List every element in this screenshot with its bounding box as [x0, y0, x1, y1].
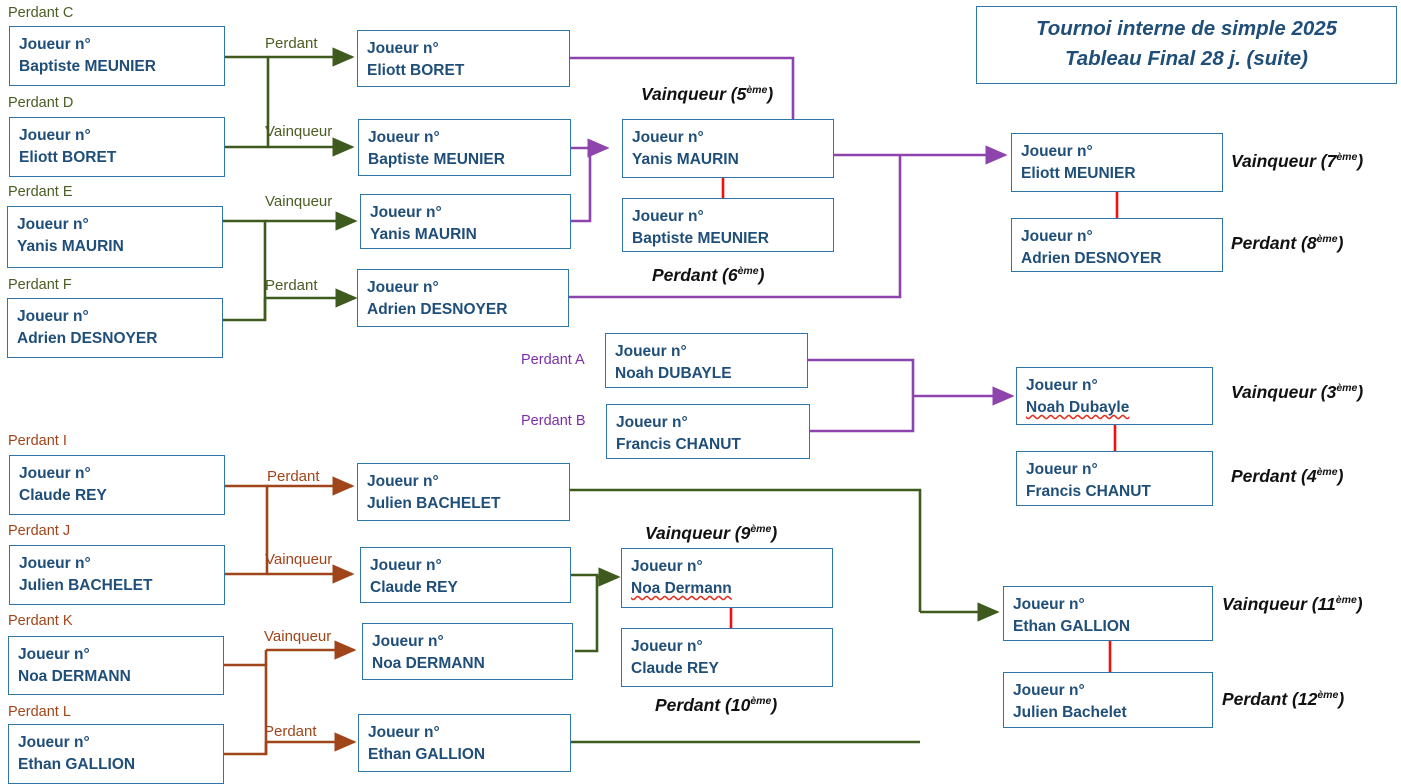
final-box-perdant-12[interactable]: Joueur n° Julien Bachelet — [1003, 672, 1213, 728]
caption-end: ) — [1338, 233, 1344, 253]
player-name: Yanis MAURIN — [632, 149, 833, 171]
edge-label-perdant-kl: Perdant — [264, 724, 317, 739]
edge-label-vainqueur-cd: Vainqueur — [265, 124, 332, 139]
player-box-perdant-d[interactable]: Joueur n° Eliott BORET — [9, 117, 225, 177]
result-box-vainqueur-5[interactable]: Joueur n° Yanis MAURIN — [622, 119, 834, 178]
round2-box-claude-rey[interactable]: Joueur n° Claude REY — [360, 547, 571, 603]
player-name: Claude REY — [370, 577, 570, 599]
caption-vainqueur-3: Vainqueur (3ème) — [1231, 383, 1363, 401]
player-prefix: Joueur n° — [368, 722, 570, 744]
player-prefix: Joueur n° — [372, 631, 572, 653]
player-name: Francis CHANUT — [616, 434, 809, 456]
final-box-perdant-4[interactable]: Joueur n° Francis CHANUT — [1016, 451, 1213, 506]
player-name: Adrien DESNOYER — [1021, 248, 1222, 270]
player-prefix: Joueur n° — [19, 463, 224, 485]
player-box-perdant-k[interactable]: Joueur n° Noa DERMANN — [8, 636, 224, 695]
player-box-perdant-b[interactable]: Joueur n° Francis CHANUT — [606, 404, 810, 459]
edge-label-vainqueur-ef: Vainqueur — [265, 194, 332, 209]
player-prefix: Joueur n° — [1013, 680, 1212, 702]
result-box-perdant-10[interactable]: Joueur n° Claude REY — [621, 628, 833, 687]
caption-end: ) — [1357, 594, 1363, 614]
caption-text: Perdant (10 — [655, 695, 750, 715]
edge-label-perdant-ef: Perdant — [265, 278, 318, 293]
result-box-perdant-6[interactable]: Joueur n° Baptiste MEUNIER — [622, 198, 834, 252]
edge-label-perdant-ij: Perdant — [267, 469, 320, 484]
player-name: Baptiste MEUNIER — [368, 149, 570, 171]
player-prefix: Joueur n° — [370, 202, 570, 224]
player-prefix: Joueur n° — [632, 206, 833, 228]
player-box-perdant-i[interactable]: Joueur n° Claude REY — [9, 455, 225, 515]
player-box-perdant-l[interactable]: Joueur n° Ethan GALLION — [8, 724, 224, 784]
player-prefix: Joueur n° — [615, 341, 807, 363]
round2-box-julien-bachelet[interactable]: Joueur n° Julien BACHELET — [357, 463, 570, 521]
caption-text: Vainqueur (11 — [1222, 594, 1336, 614]
source-label-A: Perdant A — [521, 353, 585, 368]
player-prefix: Joueur n° — [17, 306, 222, 328]
player-name: Adrien DESNOYER — [17, 328, 222, 350]
caption-text: Vainqueur (7 — [1231, 151, 1336, 171]
caption-end: ) — [1357, 382, 1363, 402]
caption-text: Perdant (4 — [1231, 466, 1317, 486]
caption-sup: ème — [746, 84, 767, 96]
player-name: Eliott BORET — [367, 60, 569, 82]
player-name: Ethan GALLION — [368, 744, 570, 766]
player-name: Julien Bachelet — [1013, 702, 1212, 724]
caption-sup: ème — [738, 265, 759, 277]
player-name: Julien BACHELET — [19, 575, 224, 597]
player-name: Francis CHANUT — [1026, 481, 1212, 503]
caption-text: Perdant (12 — [1222, 689, 1317, 709]
source-label-F: Perdant F — [8, 278, 72, 293]
round2-box-ethan-gallion[interactable]: Joueur n° Ethan GALLION — [358, 714, 571, 772]
caption-sup: ème — [1336, 151, 1357, 163]
player-prefix: Joueur n° — [368, 127, 570, 149]
caption-perdant-6: Perdant (6ème) — [652, 266, 764, 284]
edge-label-perdant-cd: Perdant — [265, 36, 318, 51]
player-prefix: Joueur n° — [631, 556, 832, 578]
caption-perdant-4: Perdant (4ème) — [1231, 467, 1343, 485]
player-name: Baptiste MEUNIER — [632, 228, 833, 250]
final-box-vainqueur-3[interactable]: Joueur n° Noah Dubayle — [1016, 367, 1213, 425]
player-name: Noah Dubayle — [1026, 397, 1212, 419]
caption-end: ) — [767, 84, 773, 104]
caption-text: Vainqueur (3 — [1231, 382, 1336, 402]
caption-end: ) — [1338, 689, 1344, 709]
player-prefix: Joueur n° — [19, 34, 224, 56]
player-prefix: Joueur n° — [367, 277, 568, 299]
caption-text: Vainqueur (5 — [641, 84, 746, 104]
player-prefix: Joueur n° — [1026, 459, 1212, 481]
caption-sup: ème — [1336, 382, 1357, 394]
player-prefix: Joueur n° — [19, 125, 224, 147]
edge-label-vainqueur-kl: Vainqueur — [264, 629, 331, 644]
source-label-K: Perdant K — [8, 614, 73, 629]
caption-vainqueur-5: Vainqueur (5ème) — [641, 85, 773, 103]
source-label-L: Perdant L — [8, 705, 71, 720]
player-name: Claude REY — [19, 485, 224, 507]
player-box-perdant-c[interactable]: Joueur n° Baptiste MEUNIER — [9, 26, 225, 86]
player-name: Baptiste MEUNIER — [19, 56, 224, 78]
result-box-vainqueur-9[interactable]: Joueur n° Noa Dermann — [621, 548, 833, 608]
player-name: Noah DUBAYLE — [615, 363, 807, 385]
final-box-perdant-8[interactable]: Joueur n° Adrien DESNOYER — [1011, 218, 1223, 272]
page-title: Tournoi interne de simple 2025 Tableau F… — [976, 6, 1397, 84]
caption-sup: ème — [750, 695, 771, 707]
player-prefix: Joueur n° — [17, 214, 222, 236]
round2-box-baptiste-meunier[interactable]: Joueur n° Baptiste MEUNIER — [358, 119, 571, 176]
caption-text: Perdant (6 — [652, 265, 738, 285]
player-prefix: Joueur n° — [1021, 141, 1222, 163]
caption-end: ) — [771, 695, 777, 715]
final-box-vainqueur-11[interactable]: Joueur n° Ethan GALLION — [1003, 586, 1213, 641]
caption-text: Perdant (8 — [1231, 233, 1317, 253]
caption-perdant-12: Perdant (12ème) — [1222, 690, 1344, 708]
source-label-C: Perdant C — [8, 6, 73, 21]
player-prefix: Joueur n° — [367, 471, 569, 493]
player-name: Claude REY — [631, 658, 832, 680]
player-name: Eliott BORET — [19, 147, 224, 169]
player-name: Eliott MEUNIER — [1021, 163, 1222, 185]
player-prefix: Joueur n° — [631, 636, 832, 658]
player-box-perdant-j[interactable]: Joueur n° Julien BACHELET — [9, 545, 225, 605]
tournament-bracket-canvas: Tournoi interne de simple 2025 Tableau F… — [0, 0, 1401, 784]
final-box-vainqueur-7[interactable]: Joueur n° Eliott MEUNIER — [1011, 133, 1223, 192]
player-prefix: Joueur n° — [18, 732, 223, 754]
source-label-B: Perdant B — [521, 414, 586, 429]
source-label-J: Perdant J — [8, 524, 70, 539]
caption-vainqueur-11: Vainqueur (11ème) — [1222, 595, 1363, 613]
player-prefix: Joueur n° — [19, 553, 224, 575]
player-prefix: Joueur n° — [632, 127, 833, 149]
title-line-2: Tableau Final 28 j. (suite) — [977, 44, 1396, 74]
caption-end: ) — [1338, 466, 1344, 486]
player-prefix: Joueur n° — [18, 644, 223, 666]
player-prefix: Joueur n° — [367, 38, 569, 60]
source-label-I: Perdant I — [8, 434, 67, 449]
caption-perdant-8: Perdant (8ème) — [1231, 234, 1343, 252]
player-name: Noa DERMANN — [18, 666, 223, 688]
caption-sup: ème — [1317, 233, 1338, 245]
player-prefix: Joueur n° — [1026, 375, 1212, 397]
player-box-perdant-a[interactable]: Joueur n° Noah DUBAYLE — [605, 333, 808, 388]
round2-box-yanis-maurin[interactable]: Joueur n° Yanis MAURIN — [360, 194, 571, 249]
caption-sup: ème — [1317, 466, 1338, 478]
player-name: Yanis MAURIN — [17, 236, 222, 258]
source-label-E: Perdant E — [8, 185, 73, 200]
player-name: Adrien DESNOYER — [367, 299, 568, 321]
caption-sup: ème — [1336, 594, 1357, 606]
player-prefix: Joueur n° — [1021, 226, 1222, 248]
caption-sup: ème — [1317, 689, 1338, 701]
edge-label-vainqueur-ij: Vainqueur — [265, 552, 332, 567]
player-name: Noa Dermann — [631, 578, 832, 600]
caption-end: ) — [771, 523, 777, 543]
player-name: Julien BACHELET — [367, 493, 569, 515]
player-prefix: Joueur n° — [370, 555, 570, 577]
title-line-1: Tournoi interne de simple 2025 — [977, 14, 1396, 44]
player-box-perdant-e[interactable]: Joueur n° Yanis MAURIN — [7, 206, 223, 268]
caption-sup: ème — [750, 523, 771, 535]
source-label-D: Perdant D — [8, 96, 73, 111]
round2-box-adrien-desnoyer[interactable]: Joueur n° Adrien DESNOYER — [357, 269, 569, 327]
player-name: Ethan GALLION — [18, 754, 223, 776]
caption-vainqueur-9: Vainqueur (9ème) — [645, 524, 777, 542]
player-box-perdant-f[interactable]: Joueur n° Adrien DESNOYER — [7, 298, 223, 358]
player-name: Ethan GALLION — [1013, 616, 1212, 638]
caption-text: Vainqueur (9 — [645, 523, 750, 543]
round2-box-eliott-boret[interactable]: Joueur n° Eliott BORET — [357, 30, 570, 87]
round2-box-noa-dermann[interactable]: Joueur n° Noa DERMANN — [362, 623, 573, 680]
caption-vainqueur-7: Vainqueur (7ème) — [1231, 152, 1363, 170]
player-name: Noa DERMANN — [372, 653, 572, 675]
player-prefix: Joueur n° — [616, 412, 809, 434]
caption-perdant-10: Perdant (10ème) — [655, 696, 777, 714]
caption-end: ) — [1357, 151, 1363, 171]
caption-end: ) — [759, 265, 765, 285]
player-name: Yanis MAURIN — [370, 224, 570, 246]
player-prefix: Joueur n° — [1013, 594, 1212, 616]
